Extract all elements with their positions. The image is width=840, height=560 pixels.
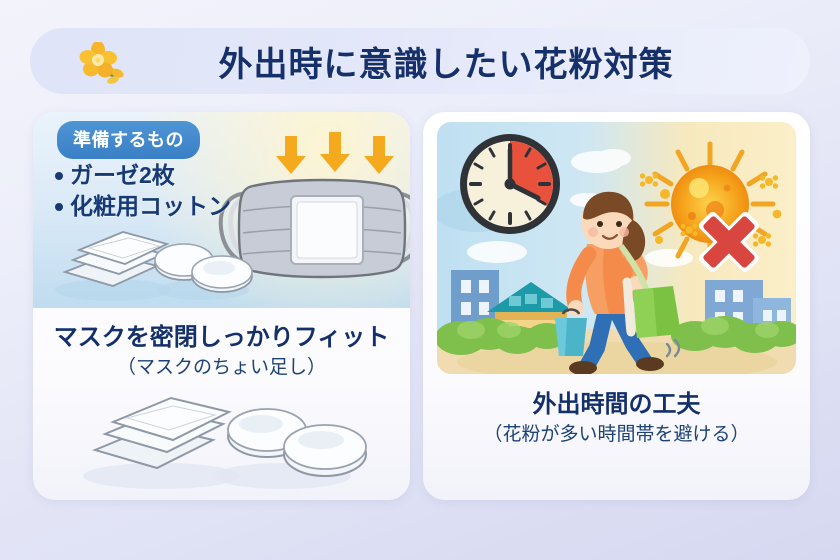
page-title: 外出時に意識したい花粉対策: [30, 37, 810, 86]
card-caption: 外出時間の工夫: [423, 384, 810, 419]
gauze-and-cotton-illustration: [33, 384, 410, 496]
supply-label: 化粧用コットン: [70, 191, 231, 222]
list-item: ガーゼ2枚: [55, 160, 231, 191]
card-caption: マスクを密閉しっかりフィット: [33, 317, 410, 352]
mask-illustration: 準備するもの ガーゼ2枚 化粧用コットン: [33, 112, 410, 308]
bullet-dot: [55, 203, 63, 211]
header-banner: 外出時に意識したい花粉対策: [30, 28, 810, 94]
outing-time-illustration: [437, 122, 796, 374]
mask-card[interactable]: 準備するもの ガーゼ2枚 化粧用コットン マスクを密閉しっかりフィット （マスク…: [33, 112, 410, 500]
supply-label: ガーゼ2枚: [70, 160, 175, 191]
list-item: 化粧用コットン: [55, 191, 231, 222]
timing-card[interactable]: 外出時間の工夫 （花粉が多い時間帯を避ける）: [423, 112, 810, 500]
supply-list: ガーゼ2枚 化粧用コットン: [55, 160, 231, 223]
prepare-badge: 準備するもの: [57, 121, 200, 159]
card-subcaption: （マスクのちょい足し）: [33, 352, 410, 379]
card-subcaption: （花粉が多い時間帯を避ける）: [423, 419, 810, 446]
flower-icon: [72, 42, 128, 86]
bullet-dot: [55, 172, 63, 180]
